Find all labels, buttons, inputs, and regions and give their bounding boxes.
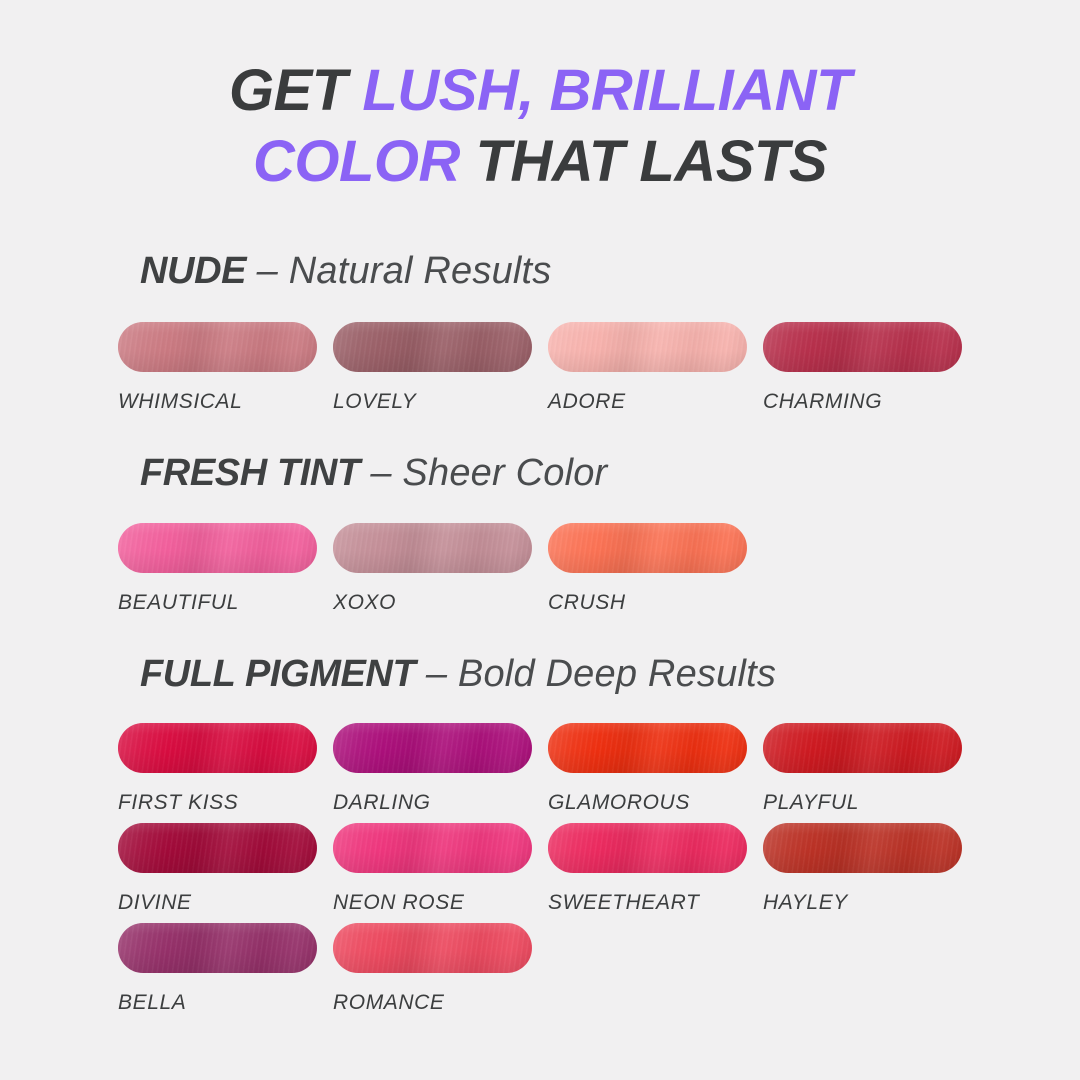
page-title-line-2-dark: THAT LASTS xyxy=(475,129,827,194)
swatch-first-kiss[interactable] xyxy=(118,723,317,773)
swatch-charming[interactable] xyxy=(763,322,962,372)
swatch-cell-divine[interactable]: DIVINE xyxy=(118,823,317,915)
swatch-divine[interactable] xyxy=(118,823,317,873)
swatch-cell-romance[interactable]: ROMANCE xyxy=(333,923,532,1015)
page-title-line-2-accent: COLOR xyxy=(253,129,476,194)
swatch-darling[interactable] xyxy=(333,723,532,773)
swatch-beautiful[interactable] xyxy=(118,523,317,573)
category-name-full-pigment: FULL PIGMENT xyxy=(140,653,415,695)
swatch-label-neon-rose: NEON ROSE xyxy=(333,891,532,915)
swatch-cell-first-kiss[interactable]: FIRST KISS xyxy=(118,723,317,815)
swatch-row-full-pigment-3: BELLA ROMANCE xyxy=(118,923,1018,1019)
swatch-bella[interactable] xyxy=(118,923,317,973)
category-heading-nude: NUDE – Natural Results xyxy=(140,252,552,290)
swatch-label-charming: CHARMING xyxy=(763,390,962,414)
swatch-label-bella: BELLA xyxy=(118,991,317,1015)
swatch-adore[interactable] xyxy=(548,322,747,372)
swatch-row-fresh-tint: BEAUTIFUL XOXO CRUSH xyxy=(118,523,1018,619)
page-title-line-2: COLOR THAT LASTS xyxy=(0,127,1080,198)
swatch-cell-neon-rose[interactable]: NEON ROSE xyxy=(333,823,532,915)
swatch-lovely[interactable] xyxy=(333,322,532,372)
swatch-cell-glamorous[interactable]: GLAMOROUS xyxy=(548,723,747,815)
swatch-cell-darling[interactable]: DARLING xyxy=(333,723,532,815)
swatch-label-glamorous: GLAMOROUS xyxy=(548,791,747,815)
swatch-cell-hayley[interactable]: HAYLEY xyxy=(763,823,962,915)
page-title-line-1-accent: LUSH, BRILLIANT xyxy=(362,58,851,123)
swatch-cell-charming[interactable]: CHARMING xyxy=(763,322,962,414)
swatch-cell-xoxo[interactable]: XOXO xyxy=(333,523,532,615)
swatch-cell-crush[interactable]: CRUSH xyxy=(548,523,747,615)
swatch-neon-rose[interactable] xyxy=(333,823,532,873)
swatch-cell-sweetheart[interactable]: SWEETHEART xyxy=(548,823,747,915)
swatch-cell-bella[interactable]: BELLA xyxy=(118,923,317,1015)
swatch-row-full-pigment-1: FIRST KISS DARLING GLAMOROUS PLAYFUL xyxy=(118,723,1018,819)
swatch-label-divine: DIVINE xyxy=(118,891,317,915)
swatch-label-whimsical: WHIMSICAL xyxy=(118,390,317,414)
swatch-row-nude: WHIMSICAL LOVELY ADORE CHARMING xyxy=(118,322,1018,418)
swatch-hayley[interactable] xyxy=(763,823,962,873)
swatch-glamorous[interactable] xyxy=(548,723,747,773)
swatch-label-beautiful: BEAUTIFUL xyxy=(118,591,317,615)
swatch-cell-adore[interactable]: ADORE xyxy=(548,322,747,414)
category-name-fresh-tint: FRESH TINT xyxy=(140,452,360,494)
swatch-playful[interactable] xyxy=(763,723,962,773)
swatch-label-darling: DARLING xyxy=(333,791,532,815)
swatch-label-crush: CRUSH xyxy=(548,591,747,615)
category-heading-fresh-tint: FRESH TINT – Sheer Color xyxy=(140,454,607,492)
category-desc-nude: – Natural Results xyxy=(257,250,552,292)
swatch-label-adore: ADORE xyxy=(548,390,747,414)
category-desc-full-pigment: – Bold Deep Results xyxy=(426,653,776,695)
swatch-label-first-kiss: FIRST KISS xyxy=(118,791,317,815)
swatch-label-hayley: HAYLEY xyxy=(763,891,962,915)
page-title-line-1: GET LUSH, BRILLIANT xyxy=(0,56,1080,127)
shade-chart-page: GET LUSH, BRILLIANT COLOR THAT LASTS NUD… xyxy=(0,0,1080,1080)
swatch-sweetheart[interactable] xyxy=(548,823,747,873)
swatch-cell-playful[interactable]: PLAYFUL xyxy=(763,723,962,815)
category-name-nude: NUDE xyxy=(140,250,246,292)
swatch-label-romance: ROMANCE xyxy=(333,991,532,1015)
category-desc-fresh-tint: – Sheer Color xyxy=(370,452,607,494)
page-title-line-1-dark: GET xyxy=(229,58,362,123)
swatch-label-playful: PLAYFUL xyxy=(763,791,962,815)
swatch-romance[interactable] xyxy=(333,923,532,973)
swatch-label-xoxo: XOXO xyxy=(333,591,532,615)
swatch-row-full-pigment-2: DIVINE NEON ROSE SWEETHEART HAYLEY xyxy=(118,823,1018,919)
swatch-label-lovely: LOVELY xyxy=(333,390,532,414)
swatch-whimsical[interactable] xyxy=(118,322,317,372)
page-title: GET LUSH, BRILLIANT COLOR THAT LASTS xyxy=(0,56,1080,198)
swatch-xoxo[interactable] xyxy=(333,523,532,573)
swatch-cell-whimsical[interactable]: WHIMSICAL xyxy=(118,322,317,414)
swatch-cell-lovely[interactable]: LOVELY xyxy=(333,322,532,414)
category-heading-full-pigment: FULL PIGMENT – Bold Deep Results xyxy=(140,655,776,693)
swatch-crush[interactable] xyxy=(548,523,747,573)
swatch-label-sweetheart: SWEETHEART xyxy=(548,891,747,915)
swatch-cell-beautiful[interactable]: BEAUTIFUL xyxy=(118,523,317,615)
